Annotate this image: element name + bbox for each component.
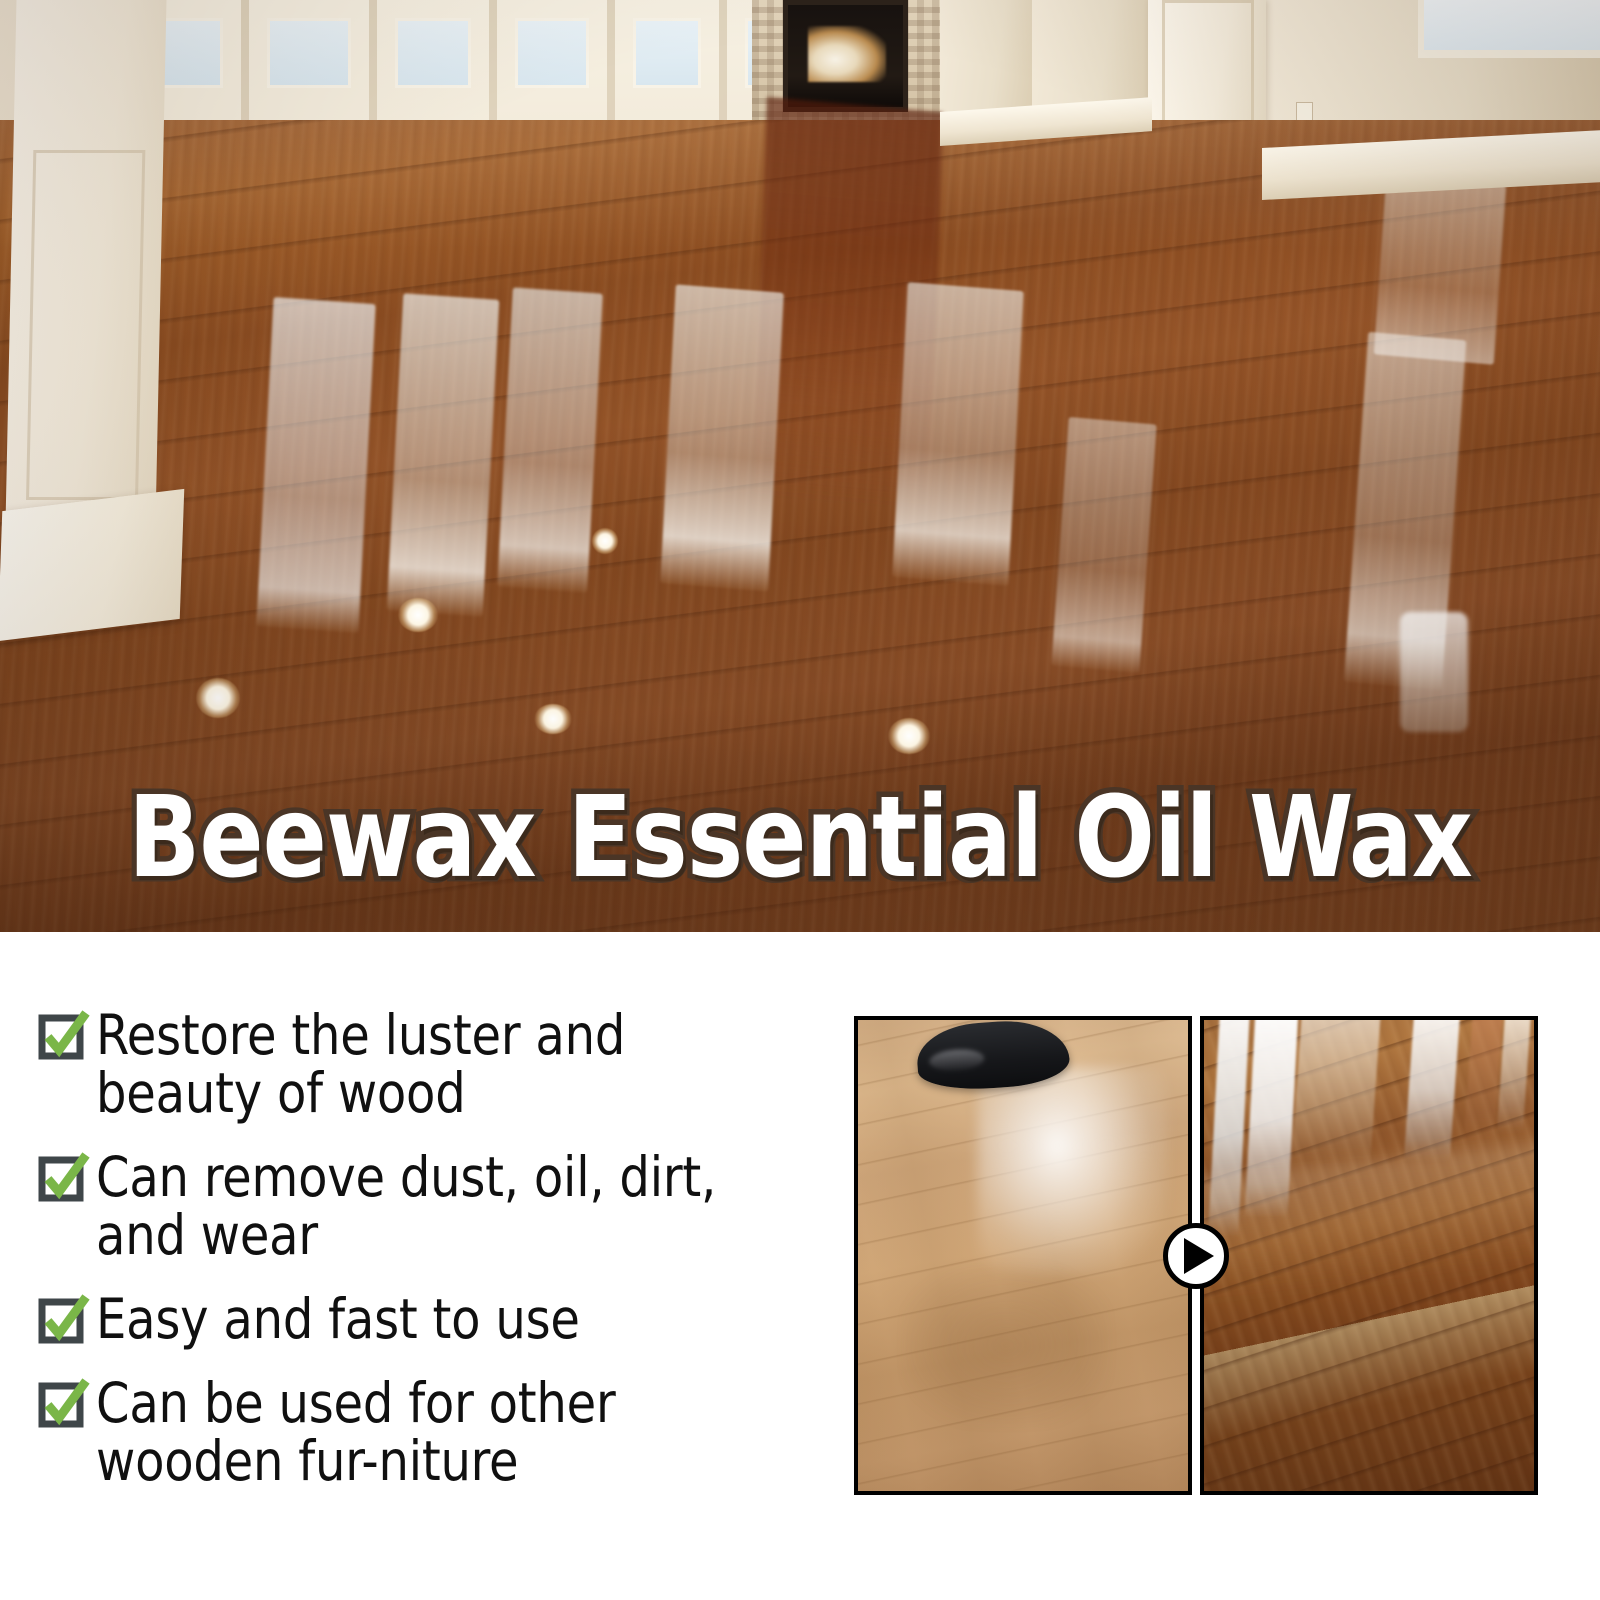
checkbox-checked-icon bbox=[38, 1010, 88, 1062]
floor-reflection-1 bbox=[256, 297, 375, 633]
list-item: Restore the luster and beauty of wood bbox=[38, 1006, 828, 1122]
after-panel bbox=[1200, 1016, 1538, 1495]
list-item: Can be used for other wooden fur-niture bbox=[38, 1374, 828, 1490]
floor-reflection-5 bbox=[892, 282, 1024, 586]
before-after-comparison bbox=[854, 1016, 1538, 1495]
feature-text: Can remove dust, oil, dirt, and wear bbox=[96, 1148, 804, 1264]
door-pane bbox=[633, 18, 701, 88]
feature-text: Easy and fast to use bbox=[96, 1290, 580, 1348]
page-title: Beewax Essential Oil Wax bbox=[48, 782, 1552, 894]
door-pane bbox=[267, 18, 351, 88]
floor-highlight-1 bbox=[592, 528, 618, 554]
feature-text: Can be used for other wooden fur-niture bbox=[96, 1374, 804, 1490]
floor-highlight-2 bbox=[398, 598, 438, 632]
checkbox-checked-icon bbox=[38, 1152, 88, 1204]
floor-highlight-5 bbox=[888, 718, 930, 754]
white-pillar-base bbox=[0, 489, 184, 641]
floor-highlight-3 bbox=[196, 678, 240, 718]
after-window-reflection-3 bbox=[1290, 1016, 1381, 1180]
list-item: Can remove dust, oil, dirt, and wear bbox=[38, 1148, 828, 1264]
hero-banner: Beewax Essential Oil Wax bbox=[0, 0, 1600, 932]
feature-list: Restore the luster and beauty of wood Ca… bbox=[38, 1006, 828, 1490]
play-triangle bbox=[1184, 1238, 1214, 1274]
play-arrow-icon[interactable] bbox=[1163, 1223, 1229, 1289]
list-item: Easy and fast to use bbox=[38, 1290, 828, 1348]
before-dull-glare bbox=[977, 1067, 1168, 1274]
floor-reflection-3 bbox=[497, 287, 603, 592]
door-pane bbox=[515, 18, 589, 88]
floor-highlight-4 bbox=[534, 704, 572, 734]
right-window bbox=[1418, 0, 1600, 58]
before-panel bbox=[854, 1016, 1192, 1495]
checkbox-checked-icon bbox=[38, 1378, 88, 1430]
floor-reflection-2 bbox=[387, 293, 500, 617]
door-pane bbox=[395, 18, 471, 88]
features-section: Restore the luster and beauty of wood Ca… bbox=[0, 932, 1600, 1600]
product-infographic: Beewax Essential Oil Wax Restore the lus… bbox=[0, 0, 1600, 1600]
before-wear-patch bbox=[904, 1265, 1109, 1425]
floor-highlight-6 bbox=[1400, 612, 1468, 732]
checkbox-checked-icon bbox=[38, 1294, 88, 1346]
floor-reflection-8 bbox=[1374, 175, 1507, 364]
floor-reflection-6 bbox=[1051, 417, 1156, 673]
fireplace-flame bbox=[808, 26, 886, 82]
floor-reflection-4 bbox=[660, 284, 784, 591]
feature-text: Restore the luster and beauty of wood bbox=[96, 1006, 804, 1122]
